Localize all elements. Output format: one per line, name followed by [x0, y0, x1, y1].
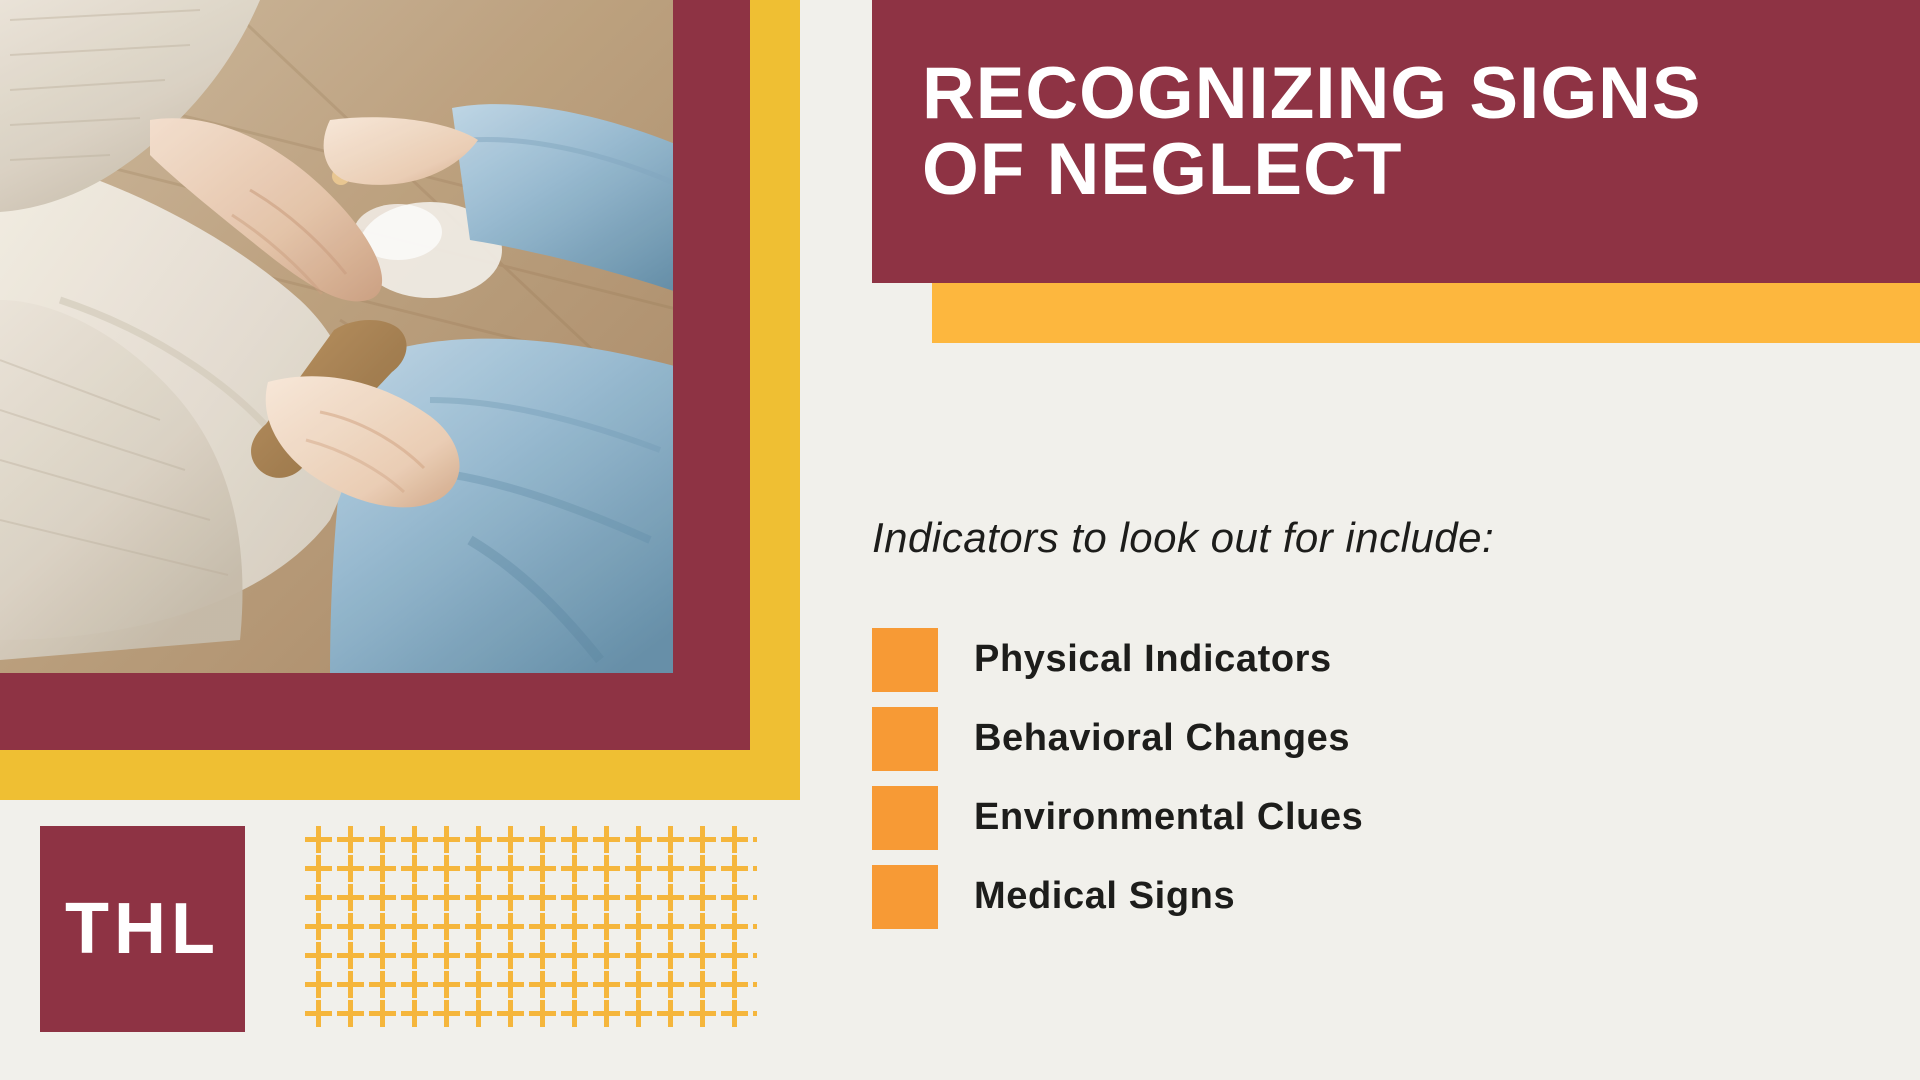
square-bullet-icon [872, 628, 938, 692]
title-banner: Recognizing Signs of Neglect [872, 0, 1920, 283]
list-item-label: Behavioral Changes [974, 717, 1350, 760]
plus-pattern-decoration [305, 826, 765, 1032]
image-composition [0, 0, 800, 800]
title-accent-bar [932, 283, 1920, 343]
list-item-label: Environmental Clues [974, 796, 1363, 839]
thl-logo: THL [40, 826, 245, 1032]
slide-root: THL Recognizing Signs of Neglect Indicat… [0, 0, 1920, 1080]
square-bullet-icon [872, 865, 938, 929]
indicator-list: Physical Indicators Behavioral Changes E… [872, 620, 1772, 936]
lead-text: Indicators to look out for include: [872, 514, 1494, 562]
square-bullet-icon [872, 786, 938, 850]
list-item-label: Physical Indicators [974, 638, 1332, 681]
caregiver-photo [0, 0, 673, 673]
list-item: Behavioral Changes [872, 699, 1772, 778]
logo-text: THL [65, 893, 220, 965]
list-item: Medical Signs [872, 857, 1772, 936]
square-bullet-icon [872, 707, 938, 771]
page-title: Recognizing Signs of Neglect [922, 56, 1920, 208]
list-item: Environmental Clues [872, 778, 1772, 857]
list-item: Physical Indicators [872, 620, 1772, 699]
list-item-label: Medical Signs [974, 875, 1235, 918]
